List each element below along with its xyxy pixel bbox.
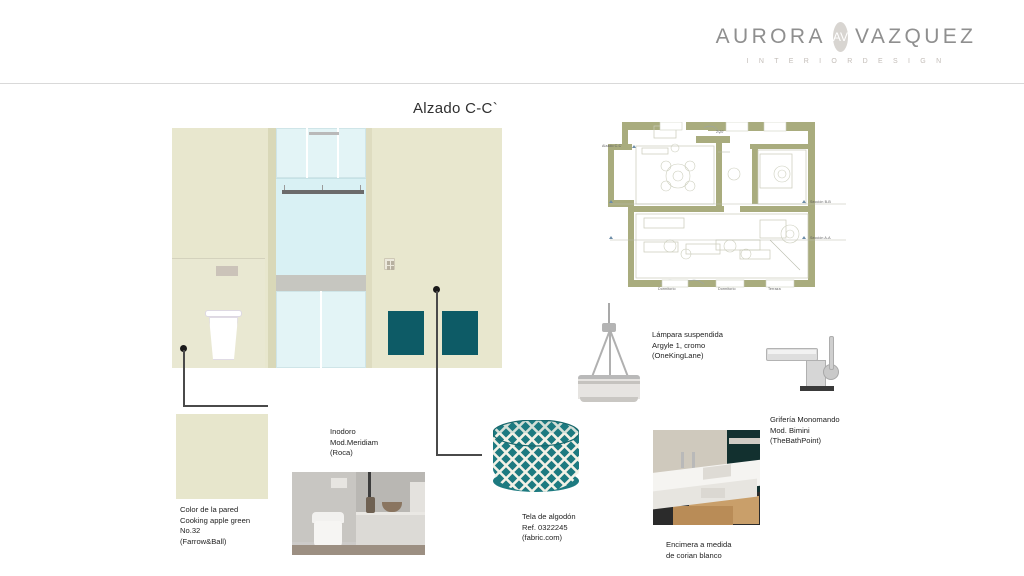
plan-label-bottom-3: Terraza xyxy=(768,287,781,291)
plan-marker-icon xyxy=(802,200,806,203)
wall-color-swatch xyxy=(176,414,268,499)
elevation-wall-line xyxy=(172,258,265,259)
floor-plan: Alzado C-C' 2.20' Sección B-B Sección A-… xyxy=(600,122,850,294)
elevation-column-left xyxy=(268,128,276,368)
toilet-bowl xyxy=(209,317,238,360)
photo-post xyxy=(368,472,371,498)
window-upper-glass xyxy=(276,128,366,178)
caption-faucet: Grifería Monomando Mod. Bimini (TheBathP… xyxy=(770,415,890,447)
folded-towel xyxy=(701,488,725,498)
presentation-slide: AURORA AV VAZQUEZ I N T E R I O R D E S … xyxy=(0,0,1024,576)
caption-countertop: Encimera a medida de corian blanco xyxy=(666,540,776,561)
ottoman-pattern xyxy=(493,420,579,496)
window-mullion xyxy=(337,128,339,178)
elevation-column-right xyxy=(366,128,372,368)
photo-floor xyxy=(292,545,425,555)
lamp-arm xyxy=(591,330,611,377)
caption-wall-color: Color de la pared Cooking apple green No… xyxy=(180,505,290,547)
leader-vertical xyxy=(183,350,185,406)
countertop-photo xyxy=(650,427,763,528)
faucet-photo xyxy=(766,334,858,396)
plan-label-dimension: 2.20' xyxy=(716,130,724,134)
brand-logo: AURORA AV VAZQUEZ I N T E R I O R D E S … xyxy=(716,22,976,65)
photo-ledge xyxy=(356,512,425,546)
vanity-cabinet-shadow xyxy=(673,506,733,528)
window-header-label xyxy=(309,132,339,135)
plan-label-elevation: Alzado C-C' xyxy=(602,144,622,148)
brand-word-first: AURORA xyxy=(716,25,826,49)
teal-tile-left xyxy=(388,311,424,355)
window-mullion xyxy=(320,291,322,368)
teal-tile-right xyxy=(442,311,478,355)
faucet-spout-highlight xyxy=(768,350,816,354)
header-divider xyxy=(0,83,1024,84)
faucet-base xyxy=(800,386,834,391)
vanity-faucet xyxy=(681,452,684,468)
toilet-photo xyxy=(292,472,425,555)
leader-horizontal xyxy=(183,405,268,407)
page-title: Alzado C-C` xyxy=(413,100,498,117)
plan-marker-icon xyxy=(802,236,806,239)
brand-tagline: I N T E R I O R D E S I G N xyxy=(716,58,976,65)
faucet-lever xyxy=(829,336,834,370)
power-outlet-icon xyxy=(384,258,395,270)
pendant-lamp-photo xyxy=(570,303,648,403)
brand-word-second: VAZQUEZ xyxy=(855,25,976,49)
window-mullion xyxy=(306,128,308,178)
vanity-faucet xyxy=(692,452,695,468)
caption-fabric: Tela de algodón Ref. 0322245 (fabric.com… xyxy=(522,512,632,544)
lamp-shade-band xyxy=(578,381,640,384)
plan-marker-icon xyxy=(609,200,613,203)
caption-toilet: Inodoro Mod.Meridiam (Roca) xyxy=(330,427,440,459)
elevation-toilet xyxy=(205,310,242,360)
photo-vase xyxy=(366,497,375,513)
wall-panel xyxy=(216,266,238,276)
lamp-stem xyxy=(608,303,610,325)
plan-label-bottom-1: Dormitorio xyxy=(658,287,676,291)
plan-label-bottom-2: Dormitorio xyxy=(718,287,736,291)
plan-label-section-aa: Sección A-A xyxy=(810,236,831,240)
plan-marker-icon xyxy=(609,236,613,239)
flush-plate xyxy=(330,477,348,489)
curtain-rail xyxy=(282,190,364,194)
leader-horizontal xyxy=(436,454,482,456)
plan-label-section-bb: Sección B-B xyxy=(810,200,831,204)
lamp-shade-bottom xyxy=(580,397,638,402)
photo-window xyxy=(410,482,425,514)
toilet-lid xyxy=(205,310,242,317)
slide-header: AURORA AV VAZQUEZ I N T E R I O R D E S … xyxy=(0,0,1024,84)
floor-plan-svg xyxy=(600,122,850,294)
window-sill xyxy=(272,275,370,291)
elevation-drawing xyxy=(172,128,502,368)
lamp-arm xyxy=(609,330,629,377)
photo-towel-bar xyxy=(729,438,763,444)
caption-lamp: Lámpara suspendida Argyle 1, cromo (OneK… xyxy=(652,330,772,362)
fabric-ottoman-photo xyxy=(493,420,579,496)
lamp-arm xyxy=(609,330,611,380)
brand-monogram-icon: AV xyxy=(833,22,848,52)
plan-marker-icon xyxy=(632,145,636,148)
